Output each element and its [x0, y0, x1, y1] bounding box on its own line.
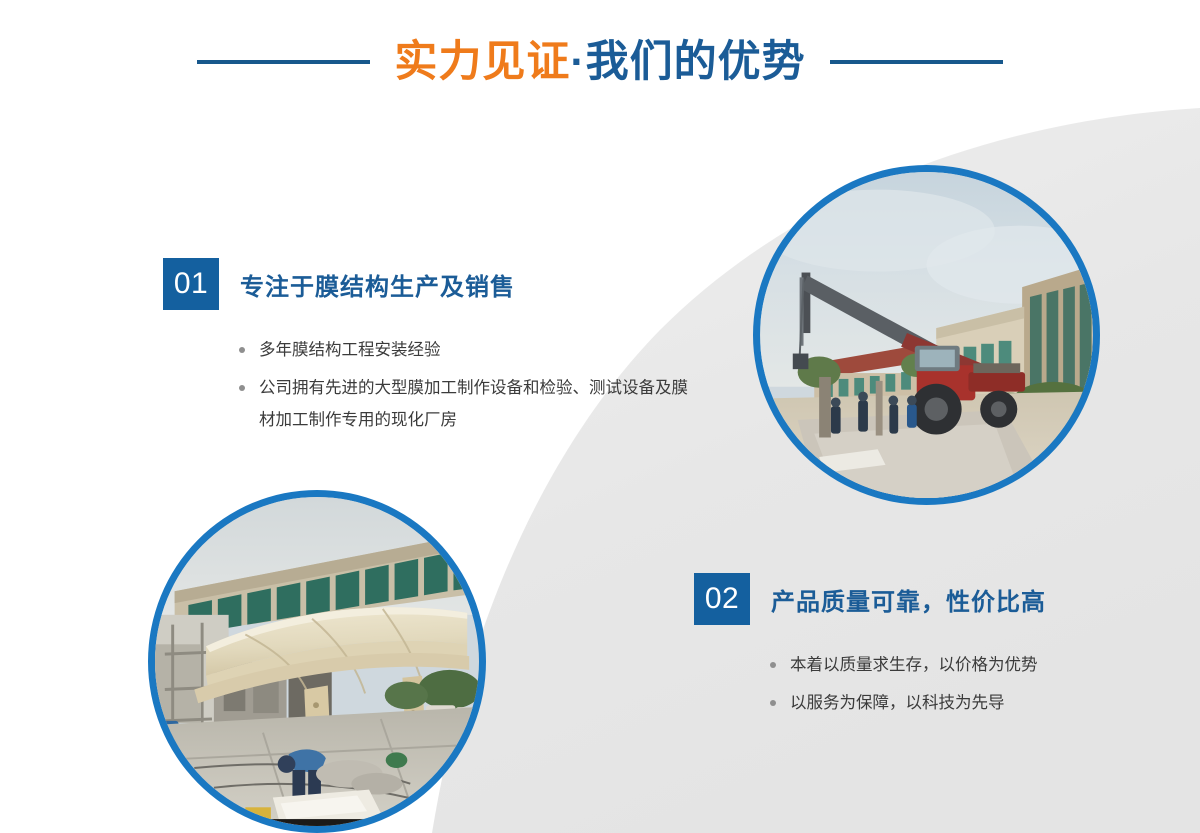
feature-02-bullet-list: 本着以质量求生存，以价格为优势 以服务为保障，以科技为先导: [766, 649, 1046, 719]
list-item-text: 多年膜结构工程安装经验: [259, 341, 441, 359]
list-item-text: 公司拥有先进的大型膜加工制作设备和检验、测试设备及膜材加工制作专用的现化厂房: [259, 379, 688, 429]
membrane-canopy-photo: [148, 490, 486, 833]
list-item: 本着以质量求生存，以价格为优势: [766, 649, 1046, 681]
bullet-dot-icon: [239, 347, 245, 353]
promo-page: 实力见证·我们的优势: [0, 0, 1200, 833]
list-item: 以服务为保障，以科技为先导: [766, 687, 1046, 719]
feature-02-title: 产品质量可靠，性价比高: [771, 582, 1046, 617]
feature-block-02: 02 产品质量可靠，性价比高 本着以质量求生存，以价格为优势 以服务为保障，以科…: [694, 573, 1046, 725]
list-item: 公司拥有先进的大型膜加工制作设备和检验、测试设备及膜材加工制作专用的现化厂房: [235, 372, 699, 436]
section-title-bar: 实力见证·我们的优势: [0, 26, 1200, 98]
feature-01-title: 专注于膜结构生产及销售: [240, 267, 515, 302]
bullet-dot-icon: [239, 385, 245, 391]
feature-01-number-badge: 01: [163, 258, 219, 310]
page-title: 实力见证·我们的优势: [394, 41, 805, 84]
list-item-text: 本着以质量求生存，以价格为优势: [790, 656, 1038, 674]
feature-block-01: 01 专注于膜结构生产及销售 多年膜结构工程安装经验 公司拥有先进的大型膜加工制…: [163, 258, 699, 442]
feature-01-bullet-list: 多年膜结构工程安装经验 公司拥有先进的大型膜加工制作设备和检验、测试设备及膜材加…: [235, 334, 699, 436]
bullet-dot-icon: [770, 662, 776, 668]
truck-crane-installation-photo: [753, 165, 1100, 505]
bullet-dot-icon: [770, 700, 776, 706]
feature-01-header: 01 专注于膜结构生产及销售: [163, 258, 699, 310]
list-item: 多年膜结构工程安装经验: [235, 334, 699, 366]
title-rule-left: [197, 60, 370, 64]
list-item-text: 以服务为保障，以科技为先导: [790, 694, 1005, 712]
feature-02-number-badge: 02: [694, 573, 750, 625]
page-title-secondary: ·我们的优势: [570, 38, 805, 86]
page-title-highlight: 实力见证: [394, 38, 570, 86]
feature-02-header: 02 产品质量可靠，性价比高: [694, 573, 1046, 625]
title-rule-right: [830, 60, 1003, 64]
